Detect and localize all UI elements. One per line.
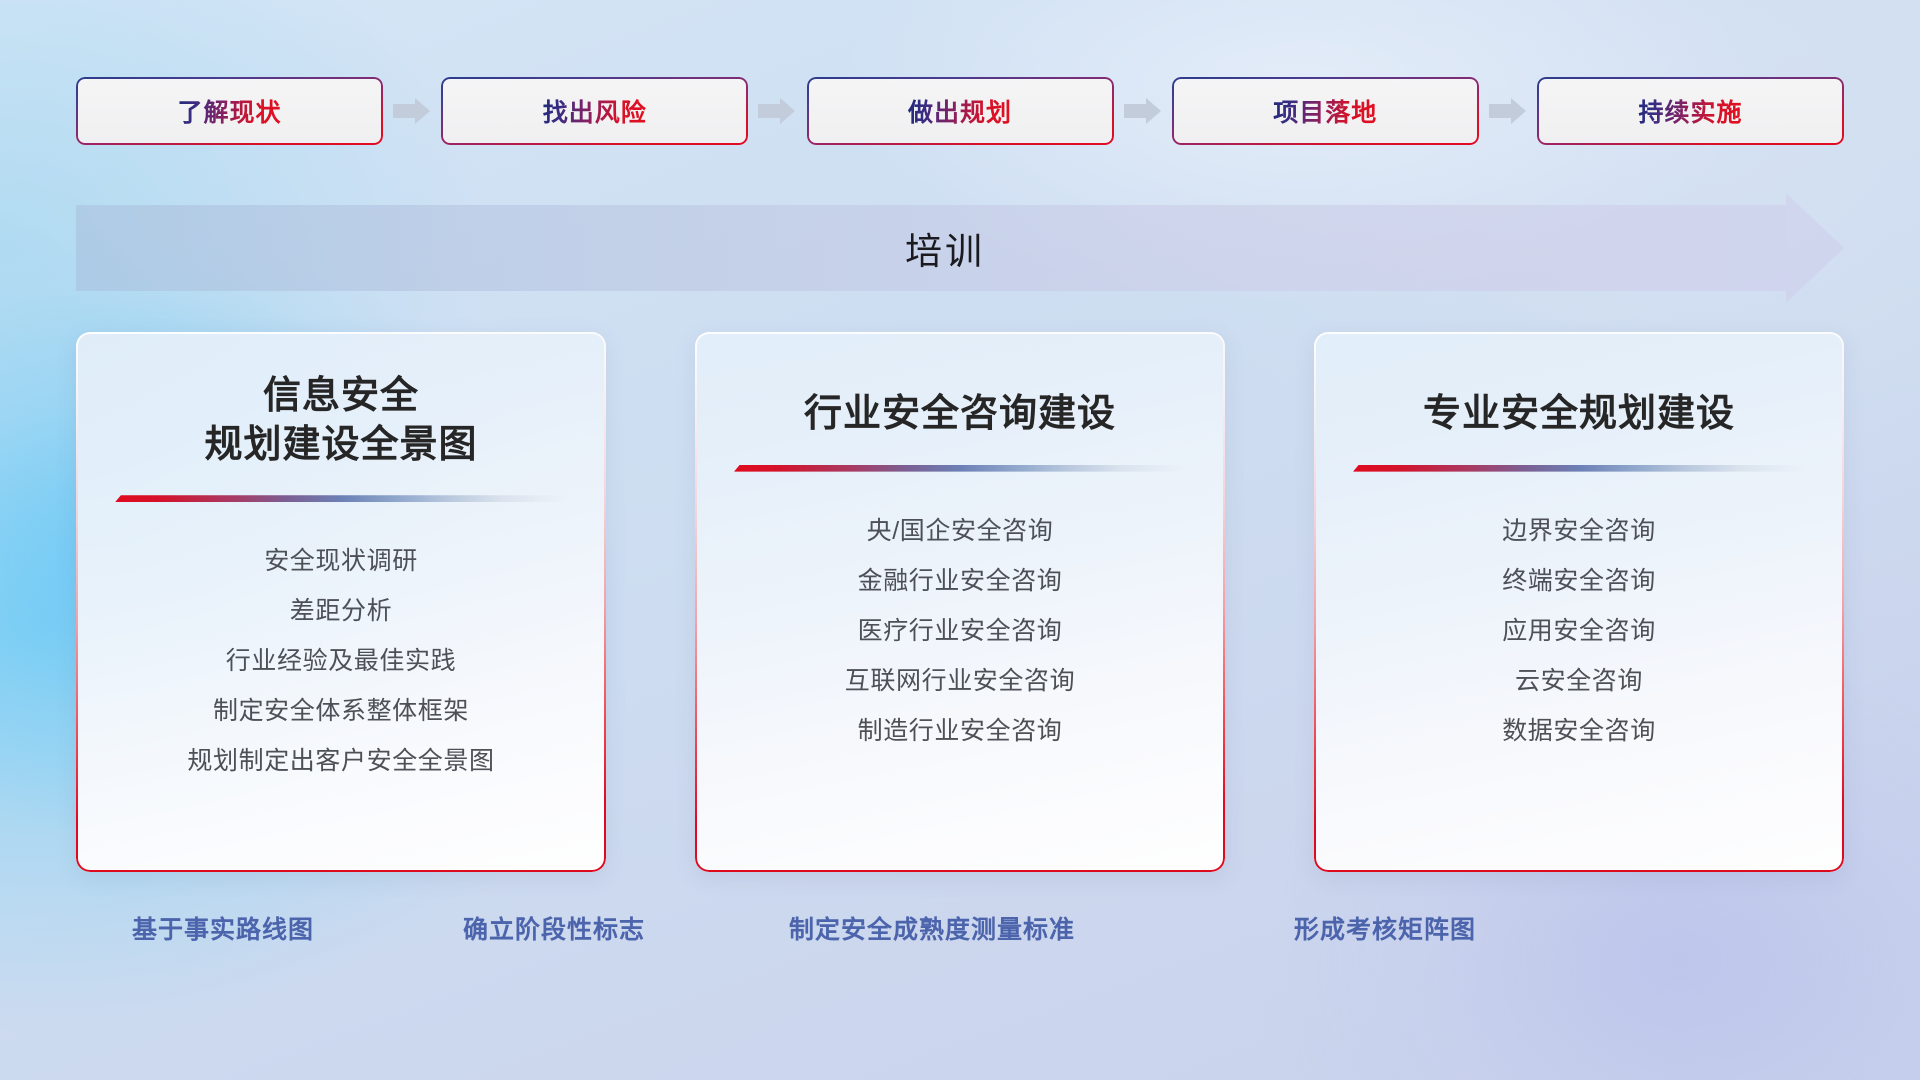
list-item: 制造行业安全咨询 xyxy=(858,706,1063,756)
step-chip-4[interactable]: 项目落地 xyxy=(1172,77,1479,145)
step-label-4: 项目落地 xyxy=(1273,93,1377,129)
list-item: 央/国企安全咨询 xyxy=(867,506,1054,556)
list-item: 规划制定出客户安全全景图 xyxy=(187,736,494,786)
card-divider xyxy=(1353,465,1805,472)
card-divider xyxy=(115,495,567,502)
list-item: 行业经验及最佳实践 xyxy=(226,636,456,686)
card-information-security-blueprint[interactable]: 信息安全 规划建设全景图 安全现状调研 差距分析 行业经验及最佳实践 制定安全体… xyxy=(76,332,606,872)
step-chip-1[interactable]: 了解现状 xyxy=(76,77,383,145)
list-item: 差距分析 xyxy=(290,586,392,636)
step-chip-2[interactable]: 找出风险 xyxy=(441,77,748,145)
banner-title: 培训 xyxy=(76,205,1844,291)
footnote-label: 形成考核矩阵图 xyxy=(1294,910,1476,946)
footnote-label: 基于事实路线图 xyxy=(132,910,314,946)
list-item: 应用安全咨询 xyxy=(1502,606,1656,656)
step-label-5: 持续实施 xyxy=(1638,93,1742,129)
card-list: 边界安全咨询 终端安全咨询 应用安全咨询 云安全咨询 数据安全咨询 xyxy=(1314,506,1844,756)
card-title: 专业安全规划建设 xyxy=(1423,390,1735,439)
step-label-2: 找出风险 xyxy=(543,93,647,129)
list-item: 数据安全咨询 xyxy=(1502,706,1656,756)
list-item: 医疗行业安全咨询 xyxy=(858,606,1063,656)
training-banner: 培训 xyxy=(76,205,1844,291)
process-step-row: 了解现状 找出风险 做出规划 项目落地 持续实施 xyxy=(76,76,1844,146)
card-industry-security-consulting[interactable]: 行业安全咨询建设 央/国企安全咨询 金融行业安全咨询 医疗行业安全咨询 互联网行… xyxy=(695,332,1225,872)
arrow-right-icon xyxy=(393,98,431,124)
step-chip-3[interactable]: 做出规划 xyxy=(807,77,1114,145)
card-professional-security-planning[interactable]: 专业安全规划建设 边界安全咨询 终端安全咨询 应用安全咨询 云安全咨询 数据安全… xyxy=(1314,332,1844,872)
list-item: 云安全咨询 xyxy=(1515,656,1643,706)
card-list: 安全现状调研 差距分析 行业经验及最佳实践 制定安全体系整体框架 规划制定出客户… xyxy=(76,536,606,786)
card-row: 信息安全 规划建设全景图 安全现状调研 差距分析 行业经验及最佳实践 制定安全体… xyxy=(76,332,1844,872)
list-item: 制定安全体系整体框架 xyxy=(213,686,469,736)
card-title: 行业安全咨询建设 xyxy=(804,390,1116,439)
arrow-right-icon xyxy=(1489,98,1527,124)
card-divider xyxy=(734,465,1186,472)
list-item: 安全现状调研 xyxy=(264,536,418,586)
arrow-right-icon xyxy=(1124,98,1162,124)
slide-canvas: 了解现状 找出风险 做出规划 项目落地 持续实施 培训 信息安全 规划建设全景图 xyxy=(0,0,1920,1080)
step-chip-5[interactable]: 持续实施 xyxy=(1537,77,1844,145)
list-item: 终端安全咨询 xyxy=(1502,556,1656,606)
card-title: 信息安全 规划建设全景图 xyxy=(204,372,477,469)
arrow-right-icon xyxy=(758,98,796,124)
card-list: 央/国企安全咨询 金融行业安全咨询 医疗行业安全咨询 互联网行业安全咨询 制造行… xyxy=(695,506,1225,756)
list-item: 金融行业安全咨询 xyxy=(858,556,1063,606)
footnote-label: 制定安全成熟度测量标准 xyxy=(789,910,1075,946)
list-item: 互联网行业安全咨询 xyxy=(845,656,1075,706)
footnote-label: 确立阶段性标志 xyxy=(463,910,645,946)
footnote-row: 基于事实路线图 确立阶段性标志 制定安全成熟度测量标准 形成考核矩阵图 xyxy=(0,910,1920,964)
list-item: 边界安全咨询 xyxy=(1502,506,1656,556)
step-label-1: 了解现状 xyxy=(177,93,281,129)
step-label-3: 做出规划 xyxy=(908,93,1012,129)
